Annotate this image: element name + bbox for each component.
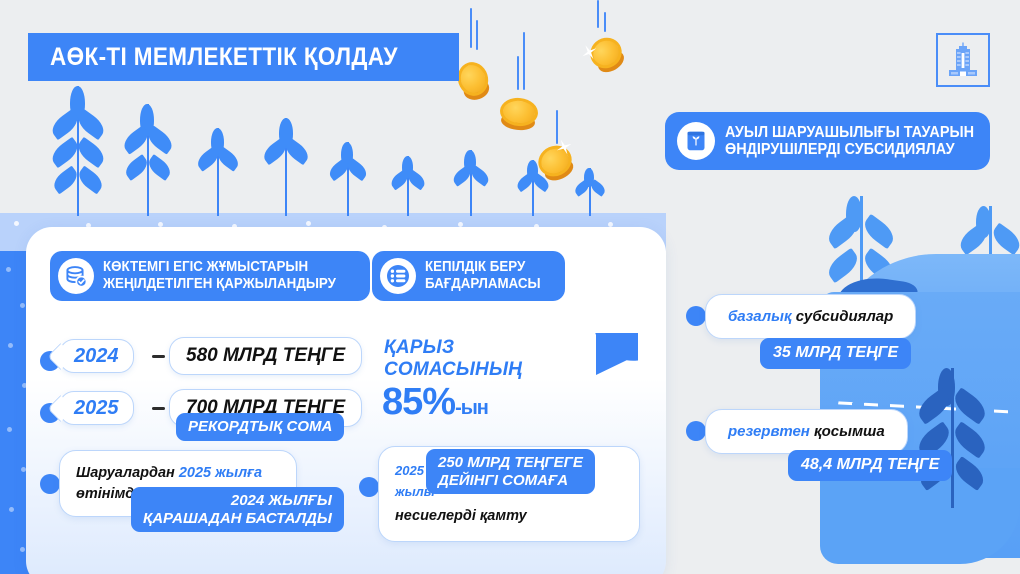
plant-sprout xyxy=(328,142,368,216)
gold-coin xyxy=(499,96,540,128)
year-chip-2025: 2025 xyxy=(59,391,134,425)
subsidies-header-text: АУЫЛ ШАРУАШЫЛЫҒЫ ТАУАРЫН ӨНДІРУШІЛЕРДІ С… xyxy=(725,124,993,159)
debt-share-percent: 85%-ын xyxy=(382,381,488,424)
page-title-text: АӨК-ТІ МЕМЛЕКЕТТІК ҚОЛДАУ xyxy=(50,43,398,72)
debt-share-label: ҚАРЫЗ СОМАСЫНЫҢ xyxy=(384,337,522,381)
coin-trail xyxy=(604,12,606,32)
bullet-dot xyxy=(359,477,379,497)
infographic-canvas: АӨК-ТІ МЕМЛЕКЕТТІК ҚОЛДАУ xyxy=(0,0,1020,574)
credit-amount-badge: 250 МЛРД ТЕҢГЕГЕ ДЕЙІНГІ СОМАҒА xyxy=(426,449,595,494)
debt-share-line2: СОМАСЫНЫҢ xyxy=(384,359,522,381)
plant-sprout xyxy=(574,168,606,216)
subsidy-base-amount-badge: 35 МЛРД ТЕҢГЕ xyxy=(760,338,911,369)
subsidy-reserve-amount-badge: 48,4 МЛРД ТЕҢГЕ xyxy=(788,450,952,481)
subsidies-header-line1: АУЫЛ ШАРУАШЫЛЫҒЫ ТАУАРЫН xyxy=(725,124,974,141)
amount-label: 580 МЛРД ТЕҢГЕ xyxy=(170,345,361,367)
gold-coin xyxy=(585,32,628,74)
main-content-card: КӨКТЕМГІ ЕГІС ЖҰМЫСТАРЫН ЖЕҢІЛДЕТІЛГЕН Қ… xyxy=(26,227,666,574)
row-connector xyxy=(152,355,165,358)
subsidy-base-rest: субсидиялар xyxy=(792,308,894,325)
row-connector xyxy=(152,407,165,410)
coin-trail xyxy=(517,56,519,90)
record-sum-badge: РЕКОРДТЫҚ СОМА xyxy=(176,413,344,441)
plant-sprout xyxy=(390,156,426,216)
start-date-line2: ҚАРАШАДАН БАСТАЛДЫ xyxy=(143,510,332,528)
note-part1: Шаруалардан xyxy=(76,465,179,481)
credit-amount-line1: 250 МЛРД ТЕҢГЕГЕ xyxy=(438,454,583,472)
plant-on-sack xyxy=(918,368,986,508)
credit-amount-line2: ДЕЙІНГІ СОМАҒА xyxy=(438,472,583,490)
amount-chip-2024: 580 МЛРД ТЕҢГЕ xyxy=(169,337,362,375)
coin-trail xyxy=(523,32,525,90)
plant-sprout xyxy=(262,118,310,216)
gold-coin xyxy=(453,58,492,100)
credit-note-year: 2025 xyxy=(395,463,424,478)
subsidies-header-line2: ӨНДІРУШІЛЕРДІ СУБСИДИЯЛАУ xyxy=(725,141,974,158)
financing-section-header: КӨКТЕМГІ ЕГІС ЖҰМЫСТАРЫН ЖЕҢІЛДЕТІЛГЕН Қ… xyxy=(50,251,370,301)
bullet-dot xyxy=(40,474,60,494)
start-date-line1: 2024 ЖЫЛҒЫ xyxy=(143,492,332,510)
plant-sprout xyxy=(50,86,106,216)
guarantee-header-line2: БАҒДАРЛАМАСЫ xyxy=(425,276,541,293)
year-chip-2024: 2024 xyxy=(59,339,134,373)
subsidy-base-highlight: базалық xyxy=(728,308,792,325)
year-label: 2025 xyxy=(60,397,133,420)
coin-trail xyxy=(476,20,478,50)
plant-sprout xyxy=(196,128,240,216)
coin-trail xyxy=(556,110,558,144)
financing-header-text: КӨКТЕМГІ ЕГІС ЖҰМЫСТАРЫН ЖЕҢІЛДЕТІЛГЕН Қ… xyxy=(103,259,356,292)
grain-sack-icon xyxy=(677,122,715,160)
financing-header-line1: КӨКТЕМГІ ЕГІС ЖҰМЫСТАРЫН xyxy=(103,259,336,276)
note-highlight: 2025 жылға xyxy=(179,465,262,481)
plant-sprout xyxy=(122,104,174,216)
percent-suffix: -ын xyxy=(455,397,488,419)
coin-trail xyxy=(470,8,472,48)
subsidy-reserve-rest: қосымша xyxy=(810,423,885,440)
subsidies-section-header: АУЫЛ ШАРУАШЫЛЫҒЫ ТАУАРЫН ӨНДІРУШІЛЕРДІ С… xyxy=(665,112,990,170)
bullet-dot xyxy=(686,421,706,441)
coin-trail xyxy=(597,0,599,28)
page-title: АӨК-ТІ МЕМЛЕКЕТТІК ҚОЛДАУ xyxy=(28,33,459,81)
government-building-icon xyxy=(936,33,990,87)
debt-share-line1: ҚАРЫЗ xyxy=(384,337,522,359)
subsidy-reserve-highlight: резервтен xyxy=(728,423,810,440)
coin-stack-check-icon xyxy=(58,258,94,294)
checklist-icon xyxy=(380,258,416,294)
guarantee-section-header: КЕПІЛДІК БЕРУ БАҒДАРЛАМАСЫ xyxy=(372,251,565,301)
guarantee-header-line1: КЕПІЛДІК БЕРУ xyxy=(425,259,541,276)
start-date-badge: 2024 ЖЫЛҒЫ ҚАРАШАДАН БАСТАЛДЫ xyxy=(131,487,344,532)
year-label: 2024 xyxy=(60,345,133,368)
debt-share-pie-chart xyxy=(554,333,638,417)
subsidy-item-reserve-chip: резервтен қосымша xyxy=(705,409,908,454)
guarantee-header-text: КЕПІЛДІК БЕРУ БАҒДАРЛАМАСЫ xyxy=(425,259,551,292)
subsidy-item-base-chip: базалық субсидиялар xyxy=(705,294,916,339)
financing-header-line2: ЖЕҢІЛДЕТІЛГЕН ҚАРЖЫЛАНДЫРУ xyxy=(103,276,336,293)
grain-sack-illustration xyxy=(660,196,1020,574)
plant-sprout xyxy=(452,150,490,216)
bullet-dot xyxy=(686,306,706,326)
percent-value: 85% xyxy=(382,381,455,423)
credit-note-text: несиелерді қамту xyxy=(395,506,623,527)
